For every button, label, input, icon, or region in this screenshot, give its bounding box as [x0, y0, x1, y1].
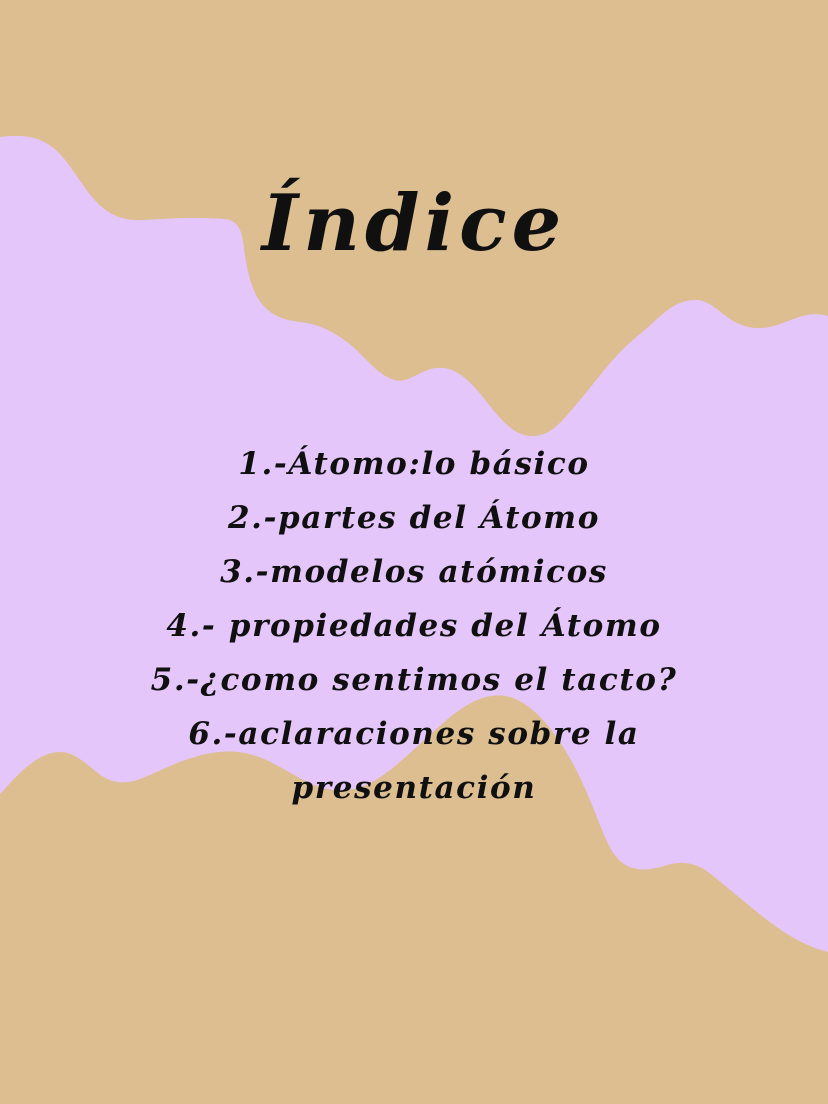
page-title: Índice: [0, 185, 828, 263]
toc-item-6: 6.-aclaraciones sobre la presentación: [104, 707, 724, 815]
presentation-slide: Índice 1.-Átomo:lo básico 2.-partes del …: [0, 0, 828, 1104]
toc-item-1: 1.-Átomo:lo básico: [0, 437, 828, 491]
table-of-contents: 1.-Átomo:lo básico 2.-partes del Átomo 3…: [0, 437, 828, 815]
toc-item-5: 5.-¿como sentimos el tacto?: [0, 653, 828, 707]
slide-content: Índice 1.-Átomo:lo básico 2.-partes del …: [0, 0, 828, 1104]
toc-item-4: 4.- propiedades del Átomo: [0, 599, 828, 653]
toc-item-3: 3.-modelos atómicos: [0, 545, 828, 599]
toc-item-2: 2.-partes del Átomo: [0, 491, 828, 545]
